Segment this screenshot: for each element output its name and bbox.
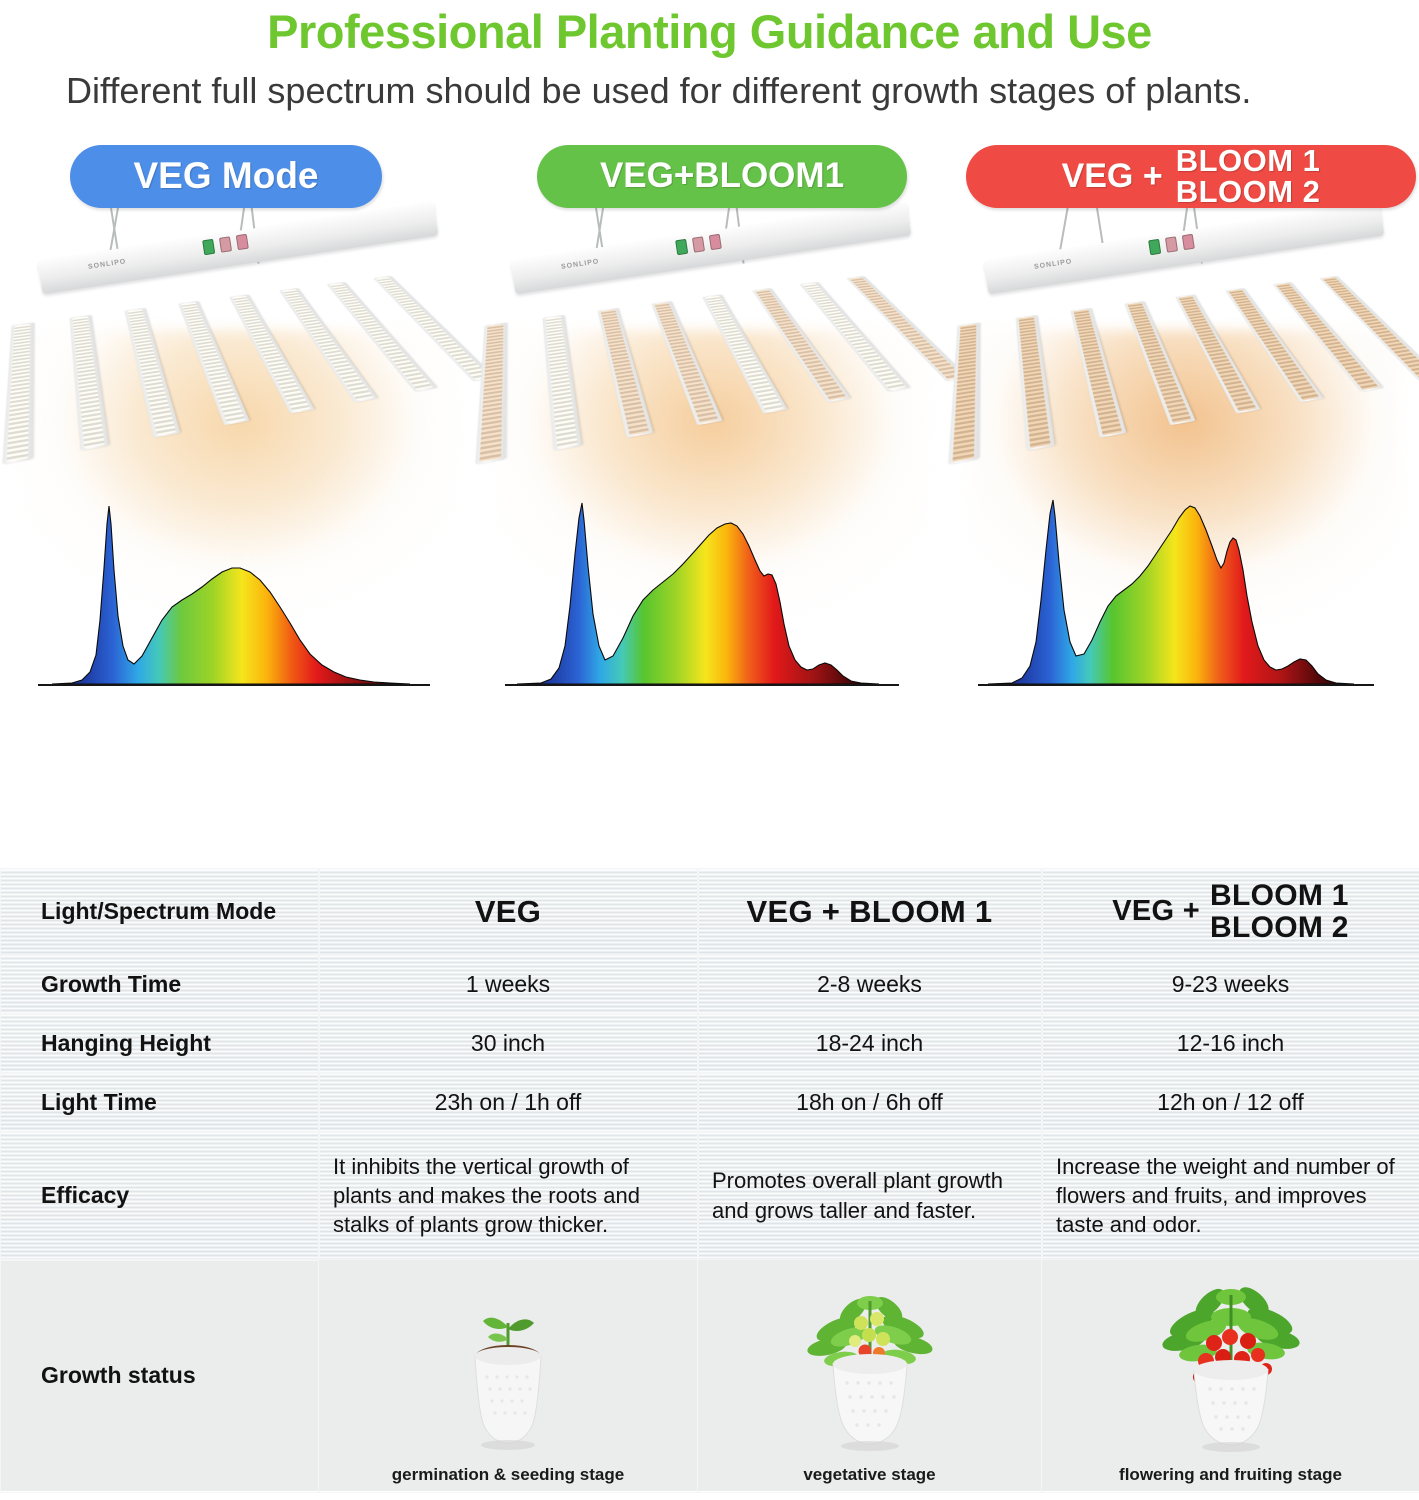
led-bar <box>542 315 581 450</box>
cell-hanging-height-bloom1: 18-24 inch <box>698 1014 1042 1073</box>
badge-label-lead: VEG + <box>1062 157 1163 196</box>
spectrum-chart-veg <box>10 450 465 710</box>
header-line1: BLOOM 1 <box>1210 880 1349 912</box>
page-subtitle: Different full spectrum should be used f… <box>0 64 1330 114</box>
cell-growth-status-veg: germination & seeding stage <box>319 1260 698 1492</box>
cell-efficacy-bloom1: Promotes overall plant growth and grows … <box>698 1132 1042 1260</box>
row-label-growth-time: Growth Time <box>1 955 319 1014</box>
table-row-growth-status: Growth status <box>1 1260 1419 1492</box>
row-label-efficacy: Efficacy <box>1 1132 319 1260</box>
header-line2: BLOOM 2 <box>1210 912 1349 944</box>
switch-bloom1[interactable] <box>219 236 232 252</box>
spectrum-chart-veg-bloom1-bloom2 <box>956 450 1411 710</box>
row-label-mode: Light/Spectrum Mode <box>1 869 319 955</box>
badge-veg-mode[interactable]: VEG Mode <box>70 145 382 208</box>
switch-bloom1[interactable] <box>692 236 705 252</box>
cell-efficacy-veg: It inhibits the vertical growth of plant… <box>319 1132 698 1260</box>
switch-veg[interactable] <box>675 239 688 255</box>
table-row: Growth Time 1 weeks 2-8 weeks 9-23 weeks <box>1 955 1419 1014</box>
led-bar-group <box>470 275 971 464</box>
cell-light-time-veg: 23h on / 1h off <box>319 1073 698 1132</box>
header-veg-bloom1-bloom2: VEG + BLOOM 1 BLOOM 2 <box>1042 869 1419 955</box>
table-row-header: Light/Spectrum Mode VEG VEG + BLOOM 1 VE… <box>1 869 1419 955</box>
row-label-light-time: Light Time <box>1 1073 319 1132</box>
led-bar <box>69 315 108 450</box>
led-bar <box>1071 308 1127 437</box>
led-bar <box>1319 276 1419 381</box>
cell-efficacy-bloom2: Increase the weight and number of flower… <box>1042 1132 1419 1260</box>
cell-hanging-height-bloom2: 12-16 inch <box>1042 1014 1419 1073</box>
caption-germination: germination & seeding stage <box>392 1465 624 1485</box>
led-bar <box>948 322 979 464</box>
header-veg: VEG <box>319 869 698 955</box>
led-bar <box>178 301 249 425</box>
led-bar <box>1015 315 1054 450</box>
row-label-hanging-height: Hanging Height <box>1 1014 319 1073</box>
led-fixture-veg-bloom1-bloom2: SONLIPO <box>964 225 1404 455</box>
table-row-efficacy: Efficacy It inhibits the vertical growth… <box>1 1132 1419 1260</box>
cell-hanging-height-veg: 30 inch <box>319 1014 698 1073</box>
badge-label-line2: BLOOM 2 <box>1176 176 1321 207</box>
table-row: Hanging Height 30 inch 18-24 inch 12-16 … <box>1 1014 1419 1073</box>
table-row: Light Time 23h on / 1h off 18h on / 6h o… <box>1 1073 1419 1132</box>
vegetative-plant-image <box>765 1277 975 1463</box>
led-bar <box>598 308 654 437</box>
spectrum-chart-veg-bloom1 <box>483 450 938 710</box>
panel-veg-bloom1: VEG+BLOOM1 SONLIPO <box>473 120 946 780</box>
badge-veg-bloom1[interactable]: VEG+BLOOM1 <box>537 145 907 208</box>
caption-flowering: flowering and fruiting stage <box>1119 1465 1342 1485</box>
cell-light-time-bloom1: 18h on / 6h off <box>698 1073 1042 1132</box>
led-bar <box>475 322 506 464</box>
cell-light-time-bloom2: 12h on / 12 off <box>1042 1073 1419 1132</box>
cell-growth-time-bloom2: 9-23 weeks <box>1042 955 1419 1014</box>
badge-label: VEG+BLOOM1 <box>600 156 844 196</box>
cell-growth-time-veg: 1 weeks <box>319 955 698 1014</box>
switch-veg[interactable] <box>1148 239 1161 255</box>
cell-growth-status-bloom1: vegetative stage <box>698 1260 1042 1492</box>
led-bar <box>125 308 181 437</box>
led-bar <box>651 301 722 425</box>
led-fixture-veg-bloom1: SONLIPO <box>491 225 931 455</box>
caption-vegetative: vegetative stage <box>803 1465 935 1485</box>
badge-label-line1: BLOOM 1 <box>1176 145 1321 176</box>
switch-veg[interactable] <box>202 239 215 255</box>
mode-panels: VEG Mode SONLIPO <box>0 120 1419 780</box>
header: Professional Planting Guidance and Use D… <box>0 0 1419 114</box>
seedling-plant-image <box>403 1277 613 1463</box>
switch-bloom2[interactable] <box>1182 234 1195 250</box>
spectrum-comparison-table: Light/Spectrum Mode VEG VEG + BLOOM 1 VE… <box>0 868 1419 1492</box>
led-bar <box>2 322 33 464</box>
badge-label: VEG Mode <box>133 155 318 197</box>
header-veg-bloom1: VEG + BLOOM 1 <box>698 869 1042 955</box>
led-bar-group <box>943 275 1419 464</box>
row-label-growth-status: Growth status <box>1 1260 319 1492</box>
cell-growth-status-bloom2: flowering and fruiting stage <box>1042 1260 1419 1492</box>
badge-veg-bloom1-bloom2[interactable]: VEG + BLOOM 1 BLOOM 2 <box>966 145 1416 208</box>
led-bar-group <box>0 275 498 464</box>
switch-bloom2[interactable] <box>709 234 722 250</box>
panel-veg: VEG Mode SONLIPO <box>0 120 473 780</box>
header-lead: VEG + <box>1112 895 1200 928</box>
led-fixture-veg: SONLIPO <box>18 225 458 455</box>
led-bar <box>1124 301 1195 425</box>
cell-growth-time-bloom1: 2-8 weeks <box>698 955 1042 1014</box>
switch-bloom2[interactable] <box>236 234 249 250</box>
switch-bloom1[interactable] <box>1165 236 1178 252</box>
panel-veg-bloom1-bloom2: VEG + BLOOM 1 BLOOM 2 SONLIPO <box>946 120 1419 780</box>
fruiting-plant-image <box>1126 1277 1336 1463</box>
page-title: Professional Planting Guidance and Use <box>0 4 1419 64</box>
